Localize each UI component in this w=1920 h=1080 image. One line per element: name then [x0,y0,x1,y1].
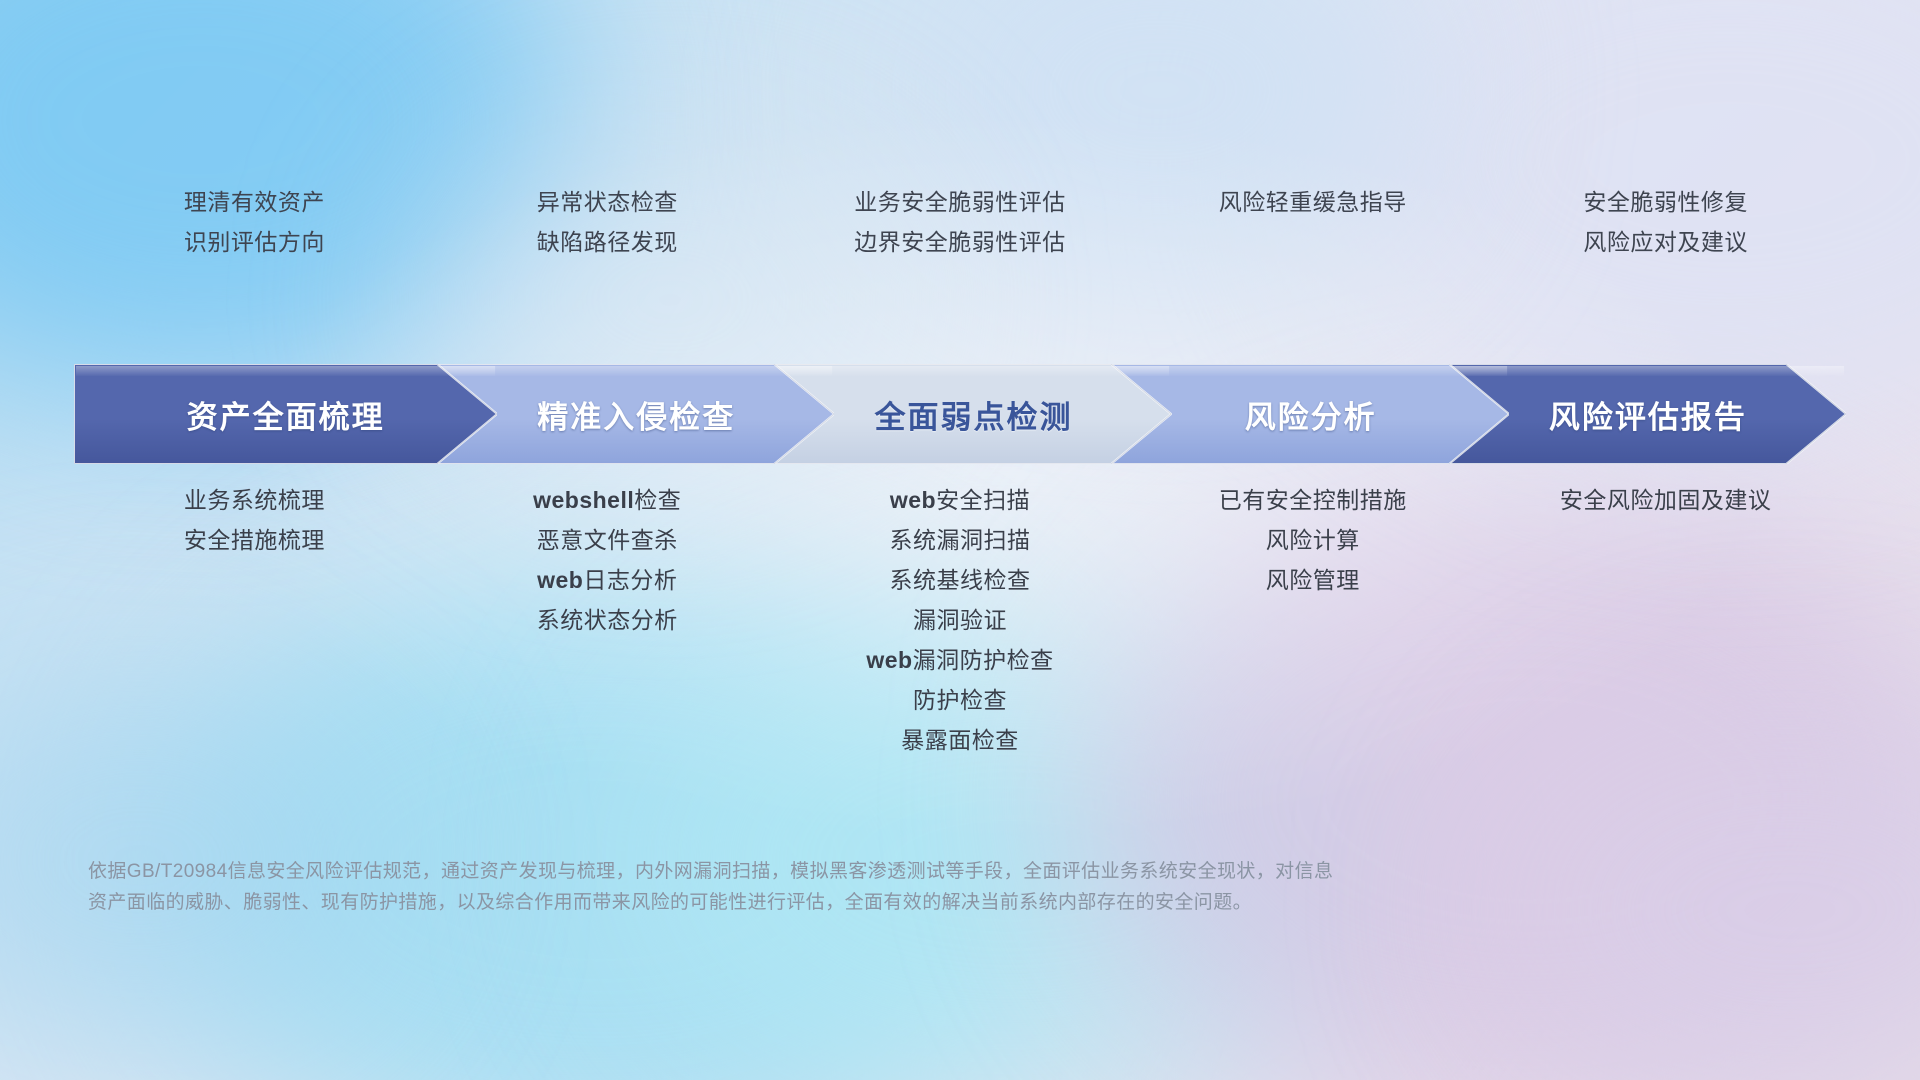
top-notes-risk-analysis: 风险轻重缓急指导 [1136,182,1489,262]
list-item: 安全措施梳理 [184,520,325,560]
top-note: 缺陷路径发现 [537,222,678,262]
list-item: 系统状态分析 [537,600,678,640]
top-notes-weakness-detection: 业务安全脆弱性评估边界安全脆弱性评估 [784,182,1137,262]
list-item: web漏洞防护检查 [866,640,1053,680]
top-note: 业务安全脆弱性评估 [854,182,1066,222]
process-chevron-band: 资产全面梳理 精准入侵检查 [74,364,1846,464]
list-item: 暴露面检查 [901,720,1019,760]
top-note: 边界安全脆弱性评估 [854,222,1066,262]
detail-list-asset-inventory: 业务系统梳理安全措施梳理 [78,480,431,560]
list-item: web日志分析 [537,560,677,600]
detail-list-weakness-detection: web安全扫描系统漏洞扫描系统基线检查漏洞验证web漏洞防护检查防护检查暴露面检… [784,480,1137,760]
list-item: webshell检查 [533,480,681,520]
list-item: 恶意文件查杀 [537,520,678,560]
list-item: 防护检查 [913,680,1007,720]
footer-line-1: 依据GB/T20984信息安全风险评估规范，通过资产发现与梳理，内外网漏洞扫描，… [88,856,1848,887]
top-note: 异常状态检查 [537,182,678,222]
footer-description: 依据GB/T20984信息安全风险评估规范，通过资产发现与梳理，内外网漏洞扫描，… [88,856,1848,918]
list-item: web安全扫描 [890,480,1030,520]
top-notes-asset-inventory: 理清有效资产识别评估方向 [78,182,431,262]
list-item: 已有安全控制措施 [1219,480,1407,520]
list-item: 风险计算 [1266,520,1360,560]
top-notes-risk-report: 安全脆弱性修复风险应对及建议 [1489,182,1842,262]
detail-list-risk-analysis: 已有安全控制措施风险计算风险管理 [1136,480,1489,600]
list-item: 系统基线检查 [889,560,1030,600]
stage-title: 资产全面梳理 [187,392,385,437]
slide-content: 理清有效资产识别评估方向异常状态检查缺陷路径发现业务安全脆弱性评估边界安全脆弱性… [0,0,1920,1080]
top-note: 风险轻重缓急指导 [1219,182,1407,222]
stage-title: 风险评估报告 [1549,392,1747,437]
top-note: 理清有效资产 [184,182,325,222]
bottom-detail-lists-row: 业务系统梳理安全措施梳理webshell检查恶意文件查杀web日志分析系统状态分… [78,480,1842,760]
list-item: 漏洞验证 [913,600,1007,640]
detail-list-risk-report: 安全风险加固及建议 [1489,480,1842,520]
stage-title: 全面弱点检测 [874,392,1072,437]
top-note: 风险应对及建议 [1583,222,1748,262]
stage-title: 精准入侵检查 [537,392,735,437]
footer-line-2: 资产面临的威胁、脆弱性、现有防护措施，以及综合作用而带来风险的可能性进行评估，全… [88,887,1848,918]
process-stage-asset-inventory[interactable]: 资产全面梳理 [74,364,497,464]
list-item: 风险管理 [1266,560,1360,600]
list-item: 安全风险加固及建议 [1560,480,1772,520]
top-note: 识别评估方向 [184,222,325,262]
detail-list-intrusion-check: webshell检查恶意文件查杀web日志分析系统状态分析 [431,480,784,640]
stage-title: 风险分析 [1245,392,1377,437]
top-notes-intrusion-check: 异常状态检查缺陷路径发现 [431,182,784,262]
top-note: 安全脆弱性修复 [1583,182,1748,222]
list-item: 业务系统梳理 [184,480,325,520]
top-annotations-row: 理清有效资产识别评估方向异常状态检查缺陷路径发现业务安全脆弱性评估边界安全脆弱性… [78,182,1842,262]
list-item: 系统漏洞扫描 [889,520,1030,560]
